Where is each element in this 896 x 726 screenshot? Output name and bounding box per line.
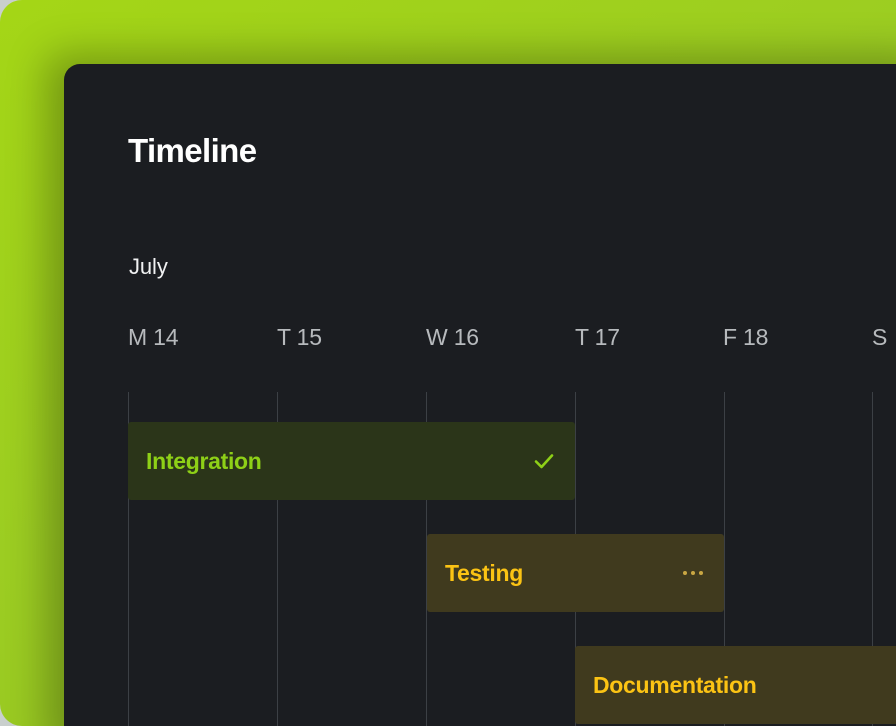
task-bar-layer: IntegrationTestingDocumentation: [64, 64, 896, 726]
green-backdrop-panel: Timeline July M 14T 15W 16T 17F 18S Inte…: [0, 0, 896, 726]
ellipsis-dot: [683, 571, 687, 575]
task-label: Integration: [146, 448, 262, 475]
ellipsis-dot: [699, 571, 703, 575]
ellipsis-icon[interactable]: [680, 560, 706, 586]
task-label: Testing: [445, 560, 523, 587]
check-icon[interactable]: [531, 448, 557, 474]
task-label: Documentation: [593, 672, 757, 699]
task-bar-integration[interactable]: Integration: [128, 422, 575, 500]
timeline-card: Timeline July M 14T 15W 16T 17F 18S Inte…: [64, 64, 896, 726]
task-bar-testing[interactable]: Testing: [427, 534, 724, 612]
task-bar-documentation[interactable]: Documentation: [575, 646, 896, 724]
ellipsis-dot: [691, 571, 695, 575]
